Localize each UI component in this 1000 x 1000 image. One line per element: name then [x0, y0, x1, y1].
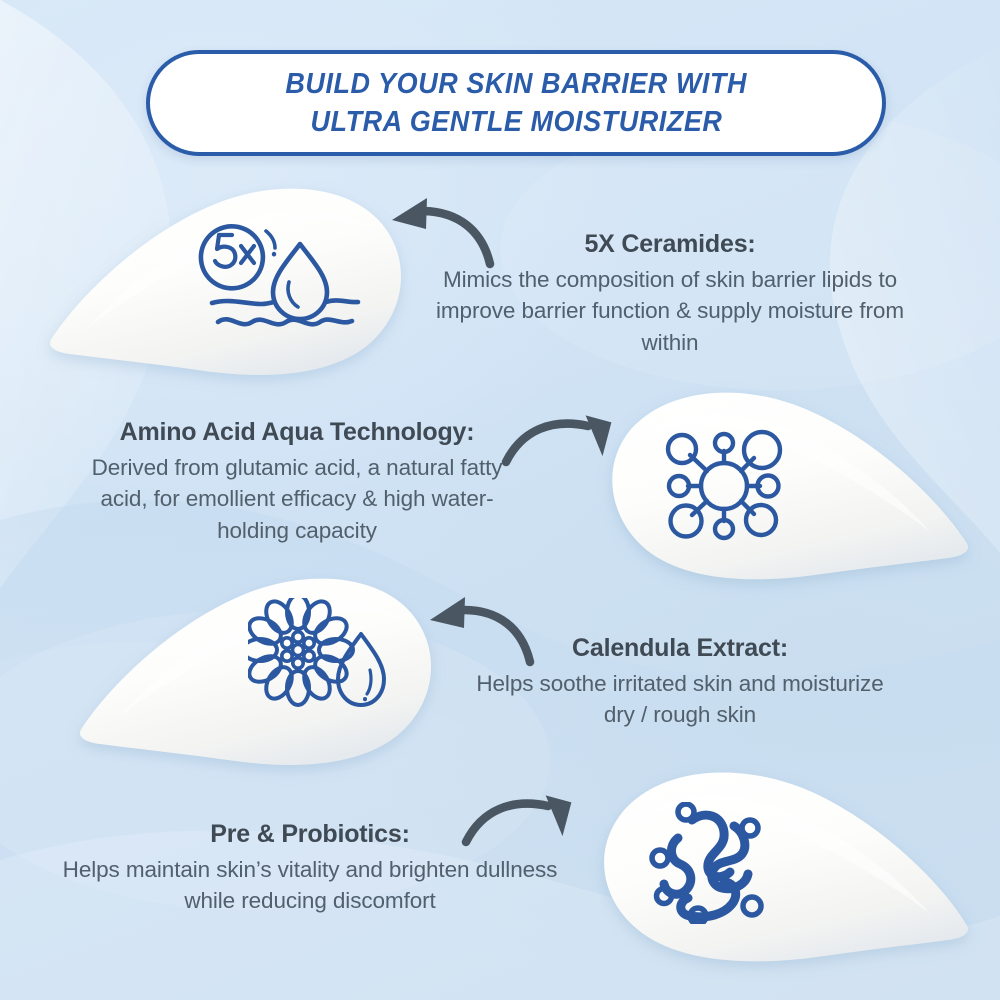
- molecule-icon: [662, 425, 786, 547]
- title-line-2: ULTRA GENTLE MOISTURIZER: [310, 103, 722, 141]
- benefit-body-ceramides: Mimics the composition of skin barrier l…: [418, 264, 922, 360]
- benefit-heading-amino-acid: Amino Acid Aqua Technology:: [66, 416, 528, 449]
- benefit-heading-calendula: Calendula Extract:: [470, 632, 890, 665]
- probiotics-microbe-icon: [648, 802, 778, 924]
- arrow-to-probiotics-swatch: [460, 790, 588, 862]
- benefit-block-calendula: Calendula Extract: Helps soothe irritate…: [470, 632, 890, 731]
- benefit-body-calendula: Helps soothe irritated skin and moisturi…: [470, 668, 890, 732]
- title-line-1: BUILD YOUR SKIN BARRIER WITH: [285, 65, 747, 103]
- title-banner: BUILD YOUR SKIN BARRIER WITH ULTRA GENTL…: [146, 50, 886, 156]
- benefit-heading-ceramides: 5X Ceramides:: [418, 228, 922, 261]
- water-droplet-5x-icon: [196, 218, 364, 340]
- flower-droplet-icon: [248, 598, 390, 716]
- infographic-canvas: BUILD YOUR SKIN BARRIER WITH ULTRA GENTL…: [0, 0, 1000, 1000]
- benefit-block-amino-acid: Amino Acid Aqua Technology: Derived from…: [66, 416, 528, 547]
- benefit-block-ceramides: 5X Ceramides: Mimics the composition of …: [418, 228, 922, 359]
- benefit-body-amino-acid: Derived from glutamic acid, a natural fa…: [66, 452, 528, 548]
- benefit-body-probiotics: Helps maintain skin’s vitality and brigh…: [52, 854, 568, 918]
